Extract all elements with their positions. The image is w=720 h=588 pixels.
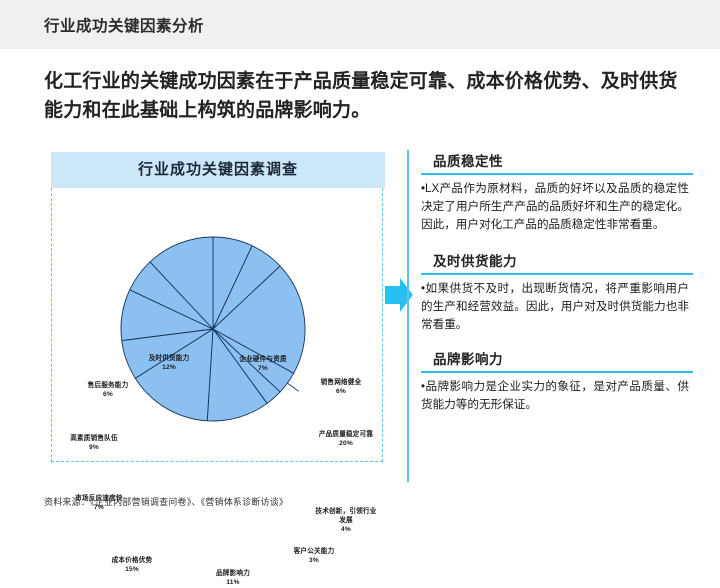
pie-label-cost-advantage: 成本价格优势 15%	[92, 557, 172, 575]
panel-body-quality: •LX产品作为原材料，品质的好坏以及品质的稳定性决定了用户所生产产品的品质好坏和…	[421, 180, 693, 234]
panel-body-supply: •如果供货不及时，出现断货情况，将严重影响用户的生产和经营效益。因此，用户对及时…	[421, 280, 693, 334]
panel-section-supply: 及时供货能力 •如果供货不及时，出现断货情况，将严重影响用户的生产和经营效益。因…	[421, 250, 693, 334]
source-note: 资料来源：《企业内部营销调查问卷》、《营销体系诊断访谈》	[44, 495, 288, 508]
pie-label-tech-innovation: 技术创新，引领行业发展 4%	[313, 508, 379, 535]
panel-rule	[421, 273, 693, 275]
page-title: 行业成功关键因素分析	[44, 14, 204, 36]
panel-heading-supply: 及时供货能力	[421, 250, 693, 273]
chart-title: 行业成功关键因素调查	[51, 152, 385, 188]
panel-rule	[421, 173, 693, 175]
pie-label-after-sales: 售后服务能力 6%	[68, 382, 148, 400]
pie-label-customer-pr: 客户公关能力 3%	[273, 548, 355, 566]
panel-rule	[421, 371, 693, 373]
pie-label-sales-network: 销售网络健全 6%	[303, 379, 379, 397]
pie-label-sales-team: 高素质销售队伍 9%	[51, 435, 137, 453]
panel-heading-brand: 品牌影响力	[421, 348, 693, 371]
chart-plot-area	[51, 188, 383, 462]
chart-card: 行业成功关键因素调查 企业硬件与资质 7% 销售网络健全 6% 产品质量稳定可靠…	[51, 152, 385, 464]
pie-label-timely-supply: 及时供货能力 12%	[129, 355, 209, 373]
vertical-divider	[407, 150, 409, 482]
pie-label-brand-influence: 品牌影响力 11%	[194, 570, 272, 588]
panel-body-brand: •品牌影响力是企业实力的象征，是对产品质量、供货能力等的无形保证。	[421, 378, 693, 414]
panel-section-quality: 品质稳定性 •LX产品作为原材料，品质的好坏以及品质的稳定性决定了用户所生产产品…	[421, 150, 693, 234]
lead-paragraph: 化工行业的关键成功因素在于产品质量稳定可靠、成本价格优势、及时供货能力和在此基础…	[44, 68, 694, 125]
detail-panel: 品质稳定性 •LX产品作为原材料，品质的好坏以及品质的稳定性决定了用户所生产产品…	[421, 150, 693, 424]
pie-label-product-quality: 产品质量稳定可靠 20%	[315, 431, 377, 449]
panel-heading-quality: 品质稳定性	[421, 150, 693, 173]
pie-label-hardware: 企业硬件与资质 7%	[224, 356, 302, 374]
panel-section-brand: 品牌影响力 •品牌影响力是企业实力的象征，是对产品质量、供货能力等的无形保证。	[421, 348, 693, 414]
